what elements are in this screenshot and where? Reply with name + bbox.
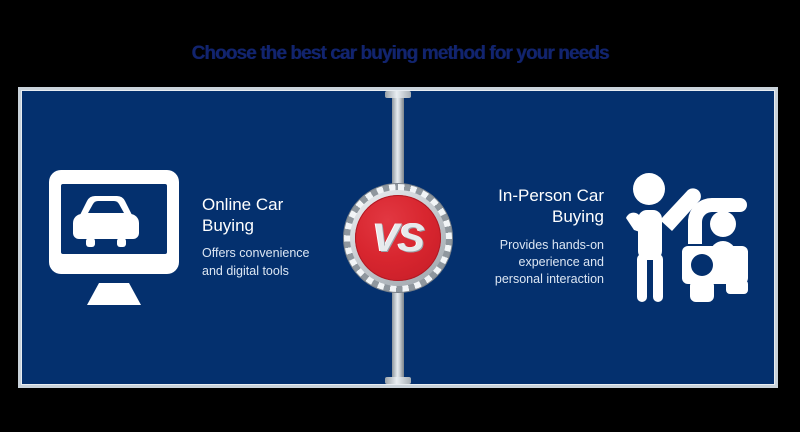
- vs-label: VS: [372, 218, 423, 258]
- page-title-bar: Choose the best car buying method for yo…: [0, 38, 800, 70]
- vs-badge-core: VS: [355, 195, 441, 281]
- option-left-heading: Online Car Buying: [202, 195, 332, 236]
- monitor-car-icon: [44, 165, 184, 310]
- comparison-panel-frame: Online Car Buying Offers convenience and…: [18, 87, 778, 388]
- page-title: Choose the best car buying method for yo…: [191, 43, 608, 65]
- salesperson-car-icon: [622, 168, 752, 308]
- vs-badge: VS: [344, 184, 452, 292]
- option-right-in-person-car-buying[interactable]: In-Person Car Buying Provides hands-on e…: [398, 91, 774, 384]
- option-left-description: Offers convenience and digital tools: [202, 245, 320, 280]
- option-left-online-car-buying[interactable]: Online Car Buying Offers convenience and…: [22, 91, 398, 384]
- option-right-heading: In-Person Car Buying: [474, 186, 604, 227]
- comparison-panel: Online Car Buying Offers convenience and…: [21, 90, 775, 385]
- option-right-description: Provides hands-on experience and persona…: [486, 237, 604, 289]
- option-right-text: In-Person Car Buying Provides hands-on e…: [474, 186, 604, 288]
- option-left-text: Online Car Buying Offers convenience and…: [202, 195, 332, 280]
